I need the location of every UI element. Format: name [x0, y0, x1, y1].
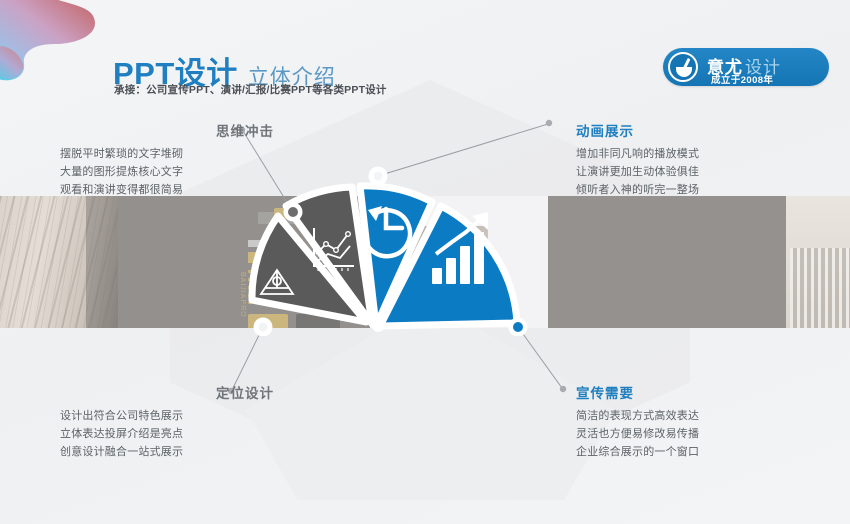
callout-line: 摆脱平时繁琐的文字堆砌 [60, 145, 290, 163]
callout-line: 大量的图形提炼核心文字 [60, 163, 290, 181]
callout-line: 立体表达投屏介绍是亮点 [60, 425, 290, 443]
connector-endpoint-dot [560, 386, 566, 392]
callout-promotion-need: 宣传需要 简洁的表现方式高效表达 灵活也方便易修改易传播 企业综合展示的一个窗口 [576, 382, 806, 461]
callout-line: 设计出符合公司特色展示 [60, 407, 290, 425]
callout-title: 定位设计 [60, 382, 290, 402]
callout-title: 思维冲击 [60, 120, 290, 140]
connector-bottom-right [518, 327, 562, 388]
callout-title: 动画展示 [576, 120, 806, 140]
callout-line: 企业综合展示的一个窗口 [576, 443, 806, 461]
callout-line: 灵活也方便易修改易传播 [576, 425, 806, 443]
callout-thinking-impact: 思维冲击 摆脱平时繁琐的文字堆砌 大量的图形提炼核心文字 观看和演讲变得都很简易 [60, 120, 290, 199]
callout-positioning-design: 定位设计 设计出符合公司特色展示 立体表达投屏介绍是亮点 创意设计融合一站式展示 [60, 382, 290, 461]
callout-line: 创意设计融合一站式展示 [60, 443, 290, 461]
connector-endpoint-dot [546, 120, 552, 126]
callout-title: 宣传需要 [576, 382, 806, 402]
callout-line: 简洁的表现方式高效表达 [576, 407, 806, 425]
callout-line: 让演讲更加生动体验俱佳 [576, 163, 806, 181]
slide-canvas: BAIJIAPRO [0, 0, 850, 524]
callout-line: 观看和演讲变得都很简易 [60, 181, 290, 199]
callout-line: 增加非同凡响的播放模式 [576, 145, 806, 163]
callout-line: 倾听者入神的听完一整场 [576, 181, 806, 199]
connector-bottom-left [232, 327, 263, 390]
node-center [372, 320, 384, 332]
callout-animation-display: 动画展示 增加非同凡响的播放模式 让演讲更加生动体验俱佳 倾听者入神的听完一整场 [576, 120, 806, 199]
